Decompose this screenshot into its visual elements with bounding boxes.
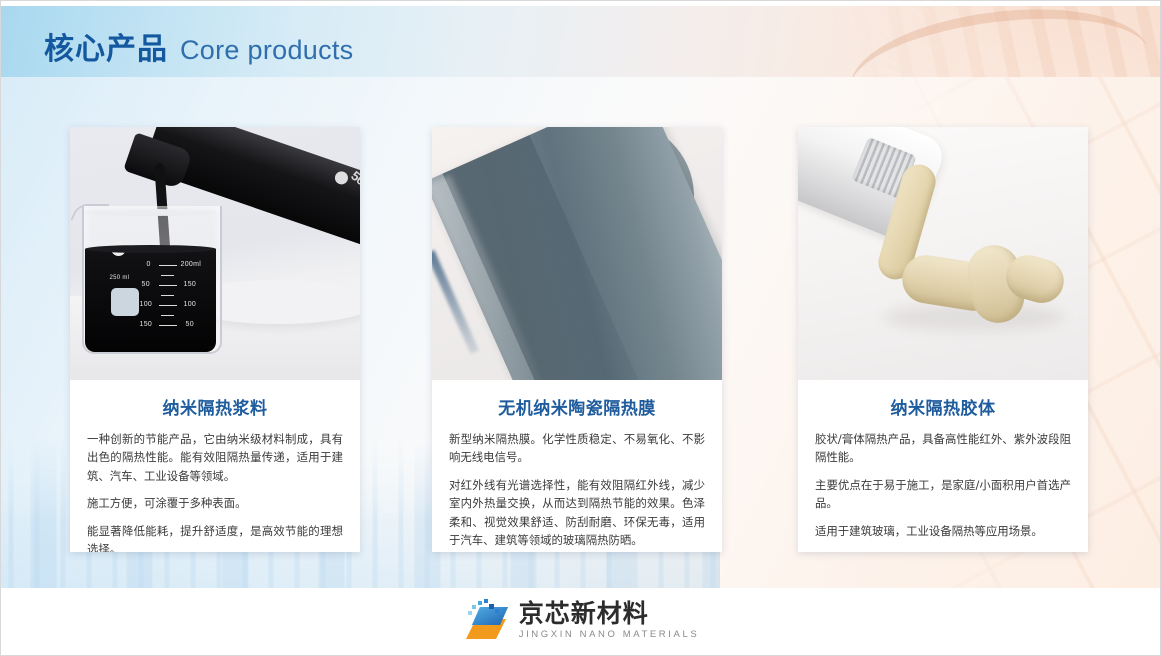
beaker-grad-100b: 100 <box>184 301 197 308</box>
product-paragraph: 施工方便，可涂覆于多种表面。 <box>87 494 343 512</box>
product-title: 纳米隔热浆料 <box>87 394 343 419</box>
product-card-body: 纳米隔热胶体 胶状/膏体隔热产品，具备高性能红外、紫外波段阻隔性能。 主要优点在… <box>798 380 1088 540</box>
company-logo: 京芯新材料 JINGXIN NANO MATERIALS <box>0 599 1161 641</box>
product-card[interactable]: 500ml 0 200ml 50 150 100 100 150 50 250 … <box>70 127 360 552</box>
product-photo <box>798 127 1088 380</box>
beaker-grad-50b: 50 <box>186 321 194 328</box>
product-card-body: 无机纳米陶瓷隔热膜 新型纳米隔热膜。化学性质稳定、不易氧化、不影响无线电信号。 … <box>432 380 722 550</box>
beaker-grad-150: 150 <box>184 281 197 288</box>
product-photo: 500ml 0 200ml 50 150 100 100 150 50 250 … <box>70 127 360 380</box>
product-card[interactable]: 无机纳米陶瓷隔热膜 新型纳米隔热膜。化学性质稳定、不易氧化、不影响无线电信号。 … <box>432 127 722 552</box>
bottle-volume-text: 500ml <box>348 168 360 201</box>
product-title: 无机纳米陶瓷隔热膜 <box>449 394 705 419</box>
product-paragraph: 适用于建筑玻璃，工业设备隔热等应用场景。 <box>815 522 1071 540</box>
page-title-en: Core products <box>180 35 353 65</box>
page-title: 核心产品Core products <box>44 24 353 68</box>
beaker-tick <box>161 315 174 317</box>
beaker-volume-text: 250 ml <box>110 275 130 281</box>
beaker-tick <box>159 325 177 327</box>
product-paragraph: 胶状/膏体隔热产品，具备高性能红外、紫外波段阻隔性能。 <box>815 430 1071 467</box>
bottle-logo-icon <box>332 169 350 187</box>
jingxin-logo-mark-icon <box>462 599 508 641</box>
beaker-tick <box>161 295 174 297</box>
beaker-tick <box>159 265 177 267</box>
beaker-tick <box>161 275 174 277</box>
slide-header: 核心产品Core products <box>0 6 1161 77</box>
beaker-grad-150b: 150 <box>140 321 153 328</box>
liquid-surface-shape <box>85 245 216 253</box>
beaker-liquid-shape: 0 200ml 50 150 100 100 150 50 250 ml <box>85 249 216 352</box>
product-card-body: 纳米隔热浆料 一种创新的节能产品，它由纳米级材料制成，具有出色的隔热性能。能有效… <box>70 380 360 552</box>
product-paragraph: 新型纳米隔热膜。化学性质稳定、不易氧化、不影响无线电信号。 <box>449 430 705 467</box>
product-photo <box>432 127 722 380</box>
beaker-tick <box>159 305 177 307</box>
beaker-grad-0: 0 <box>147 261 151 268</box>
page-title-cn: 核心产品 <box>44 32 168 67</box>
beaker-grad-100a: 100 <box>140 301 153 308</box>
beaker-tick <box>159 285 177 287</box>
beaker-label-shape <box>111 288 139 316</box>
beaker-grad-200ml: 200ml <box>181 261 202 268</box>
product-paragraph: 主要优点在于易于施工，是家庭/小面积用户首选产品。 <box>815 476 1071 513</box>
logo-company-name-cn: 京芯新材料 <box>519 601 700 626</box>
product-paragraph: 一种创新的节能产品，它由纳米级材料制成，具有出色的隔热性能。能有效阻隔热量传递，… <box>87 430 343 485</box>
logo-company-name-en: JINGXIN NANO MATERIALS <box>519 630 700 640</box>
logo-text-block: 京芯新材料 JINGXIN NANO MATERIALS <box>519 601 700 640</box>
slide-footer: 京芯新材料 JINGXIN NANO MATERIALS <box>0 588 1161 656</box>
product-title: 纳米隔热胶体 <box>815 394 1071 419</box>
product-paragraph: 能显著降低能耗，提升舒适度，是高效节能的理想选择。 <box>87 522 343 552</box>
product-paragraph: 对红外线有光谱选择性，能有效阻隔红外线，减少室内外热量交换，从而达到隔热节能的效… <box>449 476 705 550</box>
beaker-grad-50: 50 <box>142 281 150 288</box>
product-card[interactable]: 纳米隔热胶体 胶状/膏体隔热产品，具备高性能红外、紫外波段阻隔性能。 主要优点在… <box>798 127 1088 552</box>
slide-root: 核心产品Core products 500ml 0 200m <box>0 0 1161 656</box>
